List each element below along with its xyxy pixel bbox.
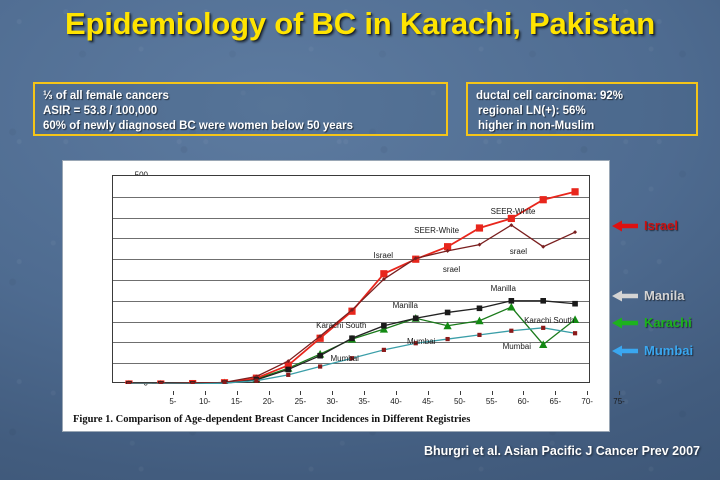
data-point-marker: [318, 364, 322, 368]
data-point-marker: [571, 188, 578, 195]
x-axis-tick-label: 65-: [550, 397, 562, 406]
data-point-marker: [254, 379, 258, 383]
data-point-marker: [191, 382, 195, 384]
data-point-marker: [477, 333, 481, 337]
data-point-marker: [476, 224, 483, 231]
annotation-israel-right: srael: [510, 247, 527, 256]
plot-frame: Karachi SouthMumbaiMumbaiMumbaiManillaMa…: [112, 175, 590, 383]
x-axis-tick-label: 70-: [581, 397, 593, 406]
side-label-text: Israel: [644, 218, 678, 233]
data-point-marker: [127, 382, 131, 384]
data-point-marker: [509, 329, 513, 333]
x-axis-tick-mark: [332, 391, 333, 395]
x-axis-tick-label: 20-: [263, 397, 275, 406]
side-label-text: Manila: [644, 288, 684, 303]
x-axis-tick-label: 10-: [199, 397, 211, 406]
annotation-mumbai-mid: Mumbai: [407, 337, 435, 346]
annotation-karachi-south-left: Karachi South: [316, 321, 366, 330]
side-label-mumbai: Mumbai: [612, 343, 693, 358]
x-axis-tick-mark: [555, 391, 556, 395]
data-point-marker: [572, 301, 578, 307]
side-label-text: Mumbai: [644, 343, 693, 358]
data-point-marker: [222, 381, 226, 384]
x-axis-tick-mark: [364, 391, 365, 395]
x-axis-tick-label: 30-: [326, 397, 338, 406]
data-point-marker: [349, 335, 355, 341]
annotation-seer-white-right: SEER-White: [491, 207, 536, 216]
data-point-marker: [540, 298, 546, 304]
x-axis-tick-label: 55-: [486, 397, 498, 406]
arrow-left-icon: [612, 344, 638, 358]
annotation-manilla-left: Manilla: [393, 301, 418, 310]
annotation-manilla-right: Manilla: [491, 284, 516, 293]
arrow-left-icon: [612, 289, 638, 303]
x-axis-tick-mark: [587, 391, 588, 395]
fact-line: higher in non-Muslim: [476, 119, 688, 134]
x-axis-tick-mark: [205, 391, 206, 395]
annotation-seer-white-left: SEER-White: [414, 226, 459, 235]
data-point-marker: [413, 315, 419, 321]
x-axis-tick-mark: [396, 391, 397, 395]
fact-line: ductal cell carcinoma: 92%: [476, 89, 688, 104]
x-axis-tick-mark: [460, 391, 461, 395]
data-point-marker: [477, 305, 483, 311]
data-point-marker: [159, 382, 163, 384]
fact-line: 60% of newly diagnosed BC were women bel…: [43, 119, 438, 134]
x-axis-tick-mark: [237, 391, 238, 395]
slide-canvas: Epidemiology of BC in Karachi, Pakistan …: [0, 0, 720, 480]
figure-caption: Figure 1. Comparison of Age-dependent Br…: [73, 414, 470, 425]
x-axis-tick-mark: [492, 391, 493, 395]
fact-box-right: ductal cell carcinoma: 92% regional LN(+…: [466, 82, 698, 136]
x-axis-tick-label: 45-: [422, 397, 434, 406]
x-axis-tick-label: 25-: [295, 397, 307, 406]
annotation-karachi-south-right: Karachi South: [524, 316, 574, 325]
x-axis-tick-label: 60-: [518, 397, 530, 406]
data-point-marker: [509, 298, 515, 304]
fact-line: regional LN(+): 56%: [476, 104, 688, 119]
figure-panel: Karachi SouthSEER-WhiteIsraelManillaMumb…: [62, 160, 610, 432]
data-point-marker: [573, 331, 577, 335]
x-axis-tick-label: 35-: [358, 397, 370, 406]
data-point-marker: [317, 353, 323, 359]
x-axis-tick-mark: [269, 391, 270, 395]
fact-line: ASIR = 53.8 / 100,000: [43, 104, 438, 119]
x-axis-tick-label: 15-: [231, 397, 243, 406]
data-point-marker: [475, 317, 483, 325]
slide-title: Epidemiology of BC in Karachi, Pakistan: [0, 6, 720, 42]
x-axis-tick-mark: [300, 391, 301, 395]
x-axis-tick-mark: [428, 391, 429, 395]
annotation-mumbai-right: Mumbai: [503, 342, 531, 351]
data-point-marker: [382, 348, 386, 352]
fact-line: ⅓ of all female cancers: [43, 89, 438, 104]
data-point-marker: [286, 373, 290, 377]
data-point-marker: [285, 367, 291, 373]
x-axis-tick-mark: [173, 391, 174, 395]
data-point-marker: [573, 230, 577, 234]
annotation-israel-left: Israel: [374, 251, 394, 260]
data-point-marker: [541, 326, 545, 330]
x-axis-tick-label: 5-: [169, 397, 176, 406]
data-point-marker: [507, 303, 515, 311]
arrow-left-icon: [612, 219, 638, 233]
data-point-marker: [446, 337, 450, 341]
x-axis-tick-label: 50-: [454, 397, 466, 406]
side-label-manila: Manila: [612, 288, 684, 303]
x-axis-tick-label: 40-: [390, 397, 402, 406]
side-label-text: Karachi: [644, 315, 692, 330]
x-axis-tick-mark: [619, 391, 620, 395]
x-axis-tick-mark: [523, 391, 524, 395]
data-point-marker: [445, 310, 451, 316]
data-point-marker: [540, 196, 547, 203]
side-label-karachi: Karachi: [612, 315, 692, 330]
data-point-marker: [381, 323, 387, 329]
data-point-marker: [380, 270, 387, 277]
arrow-left-icon: [612, 316, 638, 330]
annotation-mumbai-left: Mumbai: [330, 354, 358, 363]
fact-box-left: ⅓ of all female cancers ASIR = 53.8 / 10…: [33, 82, 448, 136]
citation-text: Bhurgri et al. Asian Pacific J Cancer Pr…: [0, 444, 700, 458]
x-axis-tick-label: 75-: [613, 397, 625, 406]
annotation-israel-mid: srael: [443, 265, 460, 274]
side-label-israel: Israel: [612, 218, 678, 233]
